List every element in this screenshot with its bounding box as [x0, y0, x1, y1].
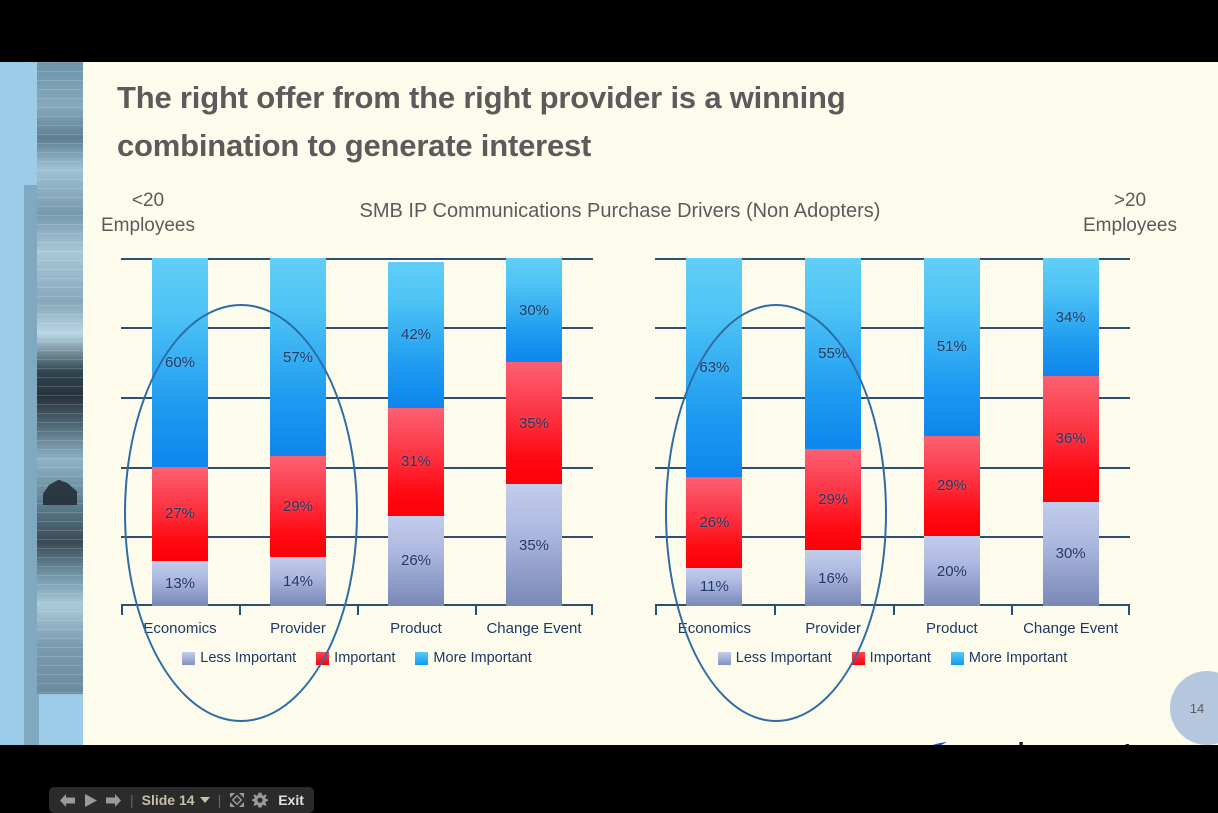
plot-area-left: 60%27%13%57%29%14%42%31%26%30%35%35%	[121, 258, 593, 606]
legend-label: Less Important	[736, 650, 832, 666]
legend-label: Less Important	[200, 650, 296, 666]
legend-label: Important	[334, 650, 395, 666]
bar-segment: 29%	[924, 436, 980, 537]
bar-value-label: 26%	[401, 552, 431, 569]
plot-area-right: 63%26%11%55%29%16%51%29%20%34%36%30%	[655, 258, 1130, 606]
toolbar-separator-2: |	[217, 792, 223, 808]
bar-value-label: 31%	[401, 453, 431, 470]
bar-segment: 36%	[1043, 376, 1099, 501]
bar-segment: 60%	[152, 258, 208, 467]
bar-segment: 27%	[152, 467, 208, 561]
bar-value-label: 14%	[283, 573, 313, 590]
bar-value-label: 34%	[1056, 309, 1086, 326]
category-label: Provider	[774, 606, 893, 644]
bar-value-label: 27%	[165, 505, 195, 522]
bar-value-label: 29%	[937, 477, 967, 494]
chart-panel-right: 63%26%11%55%29%16%51%29%20%34%36%30% Eco…	[655, 258, 1130, 678]
slide-number-badge: 14	[1170, 671, 1218, 745]
category-axis-left: EconomicsProviderProductChange Event	[121, 606, 593, 644]
bar-value-label: 13%	[165, 575, 195, 592]
edgewater-swoosh-icon	[895, 738, 975, 745]
bar-segment: 29%	[270, 456, 326, 557]
bar-groups-left: 60%27%13%57%29%14%42%31%26%30%35%35%	[121, 258, 593, 606]
slide-indicator-label[interactable]: Slide 14	[142, 792, 195, 808]
chart-title: SMB IP Communications Purchase Drivers (…	[220, 200, 1020, 223]
fullscreen-icon[interactable]	[229, 792, 245, 808]
bar-value-label: 29%	[283, 498, 313, 515]
legend-swatch-icon	[415, 652, 428, 665]
legend-item[interactable]: Less Important	[718, 650, 832, 666]
stacked-bar: 63%26%11%	[686, 258, 742, 606]
stacked-bar: 51%29%20%	[924, 258, 980, 606]
bar-groups-right: 63%26%11%55%29%16%51%29%20%34%36%30%	[655, 258, 1130, 606]
category-label: Economics	[655, 606, 774, 644]
bar-group: 60%27%13%	[121, 258, 239, 606]
chart-legend-left: Less ImportantImportantMore Important	[121, 650, 593, 666]
right-panel-employee-label-line1: >20	[1050, 188, 1210, 213]
bar-segment: 20%	[924, 536, 980, 606]
play-icon[interactable]	[83, 793, 98, 808]
chart-panel-left: 60%27%13%57%29%14%42%31%26%30%35%35% Eco…	[121, 258, 593, 678]
arrow-right-icon[interactable]	[105, 793, 122, 808]
legend-item[interactable]: More Important	[415, 650, 531, 666]
presentation-viewer: The right offer from the right provider …	[0, 0, 1218, 813]
exit-button[interactable]: Exit	[278, 792, 304, 808]
category-label: Change Event	[475, 606, 593, 644]
left-panel-employee-label: <20 Employees	[68, 188, 228, 238]
bar-value-label: 60%	[165, 354, 195, 371]
bar-group: 51%29%20%	[893, 258, 1012, 606]
bar-group: 30%35%35%	[475, 258, 593, 606]
bar-value-label: 51%	[937, 338, 967, 355]
bar-segment: 29%	[805, 449, 861, 550]
arrow-left-icon[interactable]	[59, 793, 76, 808]
bar-segment: 30%	[1043, 502, 1099, 606]
legend-item[interactable]: Less Important	[182, 650, 296, 666]
bar-value-label: 30%	[519, 302, 549, 319]
bar-segment: 35%	[506, 362, 562, 484]
deco-band-light	[0, 62, 24, 745]
stacked-bar: 57%29%14%	[270, 258, 326, 606]
left-panel-employee-label-line1: <20	[68, 188, 228, 213]
bar-group: 42%31%26%	[357, 258, 475, 606]
bar-group: 55%29%16%	[774, 258, 893, 606]
legend-swatch-icon	[951, 652, 964, 665]
bar-value-label: 20%	[937, 563, 967, 580]
category-label: Economics	[121, 606, 239, 644]
bar-segment: 26%	[388, 516, 444, 606]
decorative-photo-strip	[0, 62, 83, 745]
chart-legend-right: Less ImportantImportantMore Important	[655, 650, 1130, 666]
bar-value-label: 42%	[401, 326, 431, 343]
category-axis-right: EconomicsProviderProductChange Event	[655, 606, 1130, 644]
bar-segment: 26%	[686, 477, 742, 567]
bar-segment: 31%	[388, 408, 444, 516]
right-panel-employee-label-line2: Employees	[1050, 213, 1210, 238]
bar-value-label: 16%	[818, 570, 848, 587]
legend-swatch-icon	[182, 652, 195, 665]
legend-label: More Important	[433, 650, 531, 666]
legend-item[interactable]: Important	[852, 650, 931, 666]
bar-segment: 35%	[506, 484, 562, 606]
bar-value-label: 26%	[699, 514, 729, 531]
right-panel-employee-label: >20 Employees	[1050, 188, 1210, 238]
bar-value-label: 36%	[1056, 430, 1086, 447]
bar-segment: 63%	[686, 258, 742, 477]
legend-label: More Important	[969, 650, 1067, 666]
bar-value-label: 35%	[519, 415, 549, 432]
bar-segment: 16%	[805, 550, 861, 606]
legend-swatch-icon	[852, 652, 865, 665]
bar-group: 57%29%14%	[239, 258, 357, 606]
bar-segment: 30%	[506, 258, 562, 362]
category-label: Change Event	[1011, 606, 1130, 644]
bar-value-label: 63%	[699, 359, 729, 376]
slide-canvas: The right offer from the right provider …	[0, 62, 1218, 745]
slideshow-controlbar[interactable]: | Slide 14 | Exit	[49, 787, 314, 813]
bar-segment: 34%	[1043, 258, 1099, 376]
bar-segment: 57%	[270, 258, 326, 456]
edgewater-logo: edgewater NETWORKS	[895, 738, 1145, 745]
legend-label: Important	[870, 650, 931, 666]
bar-segment: 11%	[686, 568, 742, 606]
bar-value-label: 11%	[700, 578, 729, 595]
stacked-bar: 60%27%13%	[152, 258, 208, 606]
bar-segment: 55%	[805, 258, 861, 449]
bar-value-label: 29%	[818, 491, 848, 508]
bar-group: 63%26%11%	[655, 258, 774, 606]
category-label: Product	[893, 606, 1012, 644]
legend-item[interactable]: Important	[316, 650, 395, 666]
bar-segment: 13%	[152, 561, 208, 606]
bar-value-label: 55%	[818, 345, 848, 362]
stacked-bar: 30%35%35%	[506, 258, 562, 606]
toolbar-separator-1: |	[129, 792, 135, 808]
stacked-bar: 55%29%16%	[805, 258, 861, 606]
bar-value-label: 35%	[519, 537, 549, 554]
category-label: Provider	[239, 606, 357, 644]
stacked-bar: 34%36%30%	[1043, 258, 1099, 606]
legend-item[interactable]: More Important	[951, 650, 1067, 666]
chevron-down-icon[interactable]	[200, 797, 210, 803]
bar-group: 34%36%30%	[1011, 258, 1130, 606]
bar-segment: 14%	[270, 557, 326, 606]
legend-swatch-icon	[316, 652, 329, 665]
stacked-bar: 42%31%26%	[388, 258, 444, 606]
category-label: Product	[357, 606, 475, 644]
page-title: The right offer from the right provider …	[117, 74, 1017, 170]
bar-value-label: 57%	[283, 349, 313, 366]
slide-number-text: 14	[1190, 701, 1204, 716]
bar-value-label: 30%	[1056, 545, 1086, 562]
deco-photo	[37, 62, 83, 694]
logo-wordmark: edgewater	[980, 736, 1172, 745]
bar-segment: 42%	[388, 262, 444, 408]
gear-icon[interactable]	[252, 792, 268, 808]
bar-segment: 51%	[924, 258, 980, 435]
left-panel-employee-label-line2: Employees	[68, 213, 228, 238]
legend-swatch-icon	[718, 652, 731, 665]
